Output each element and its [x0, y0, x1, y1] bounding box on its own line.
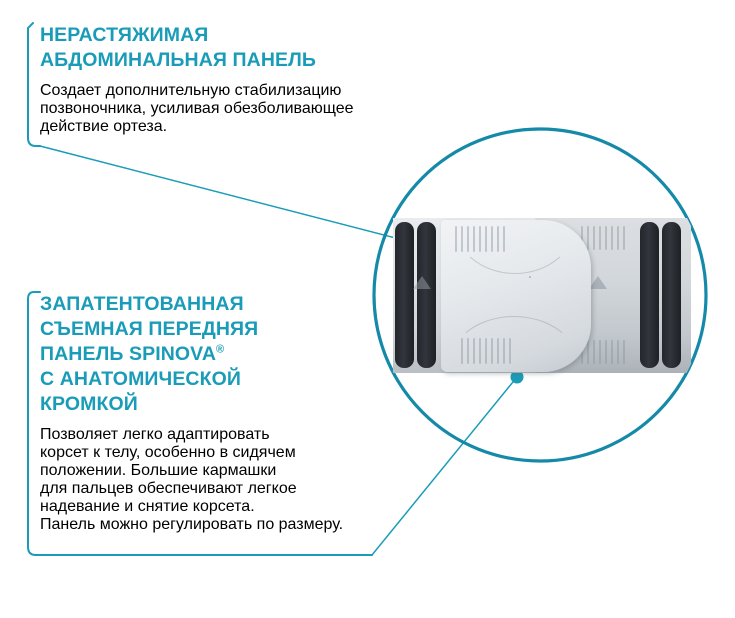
vent-ribs-top-left: [455, 226, 505, 252]
panel-anatomic-edge-upper: [453, 168, 577, 274]
callout-spinova-title-line-3: ПАНЕЛЬ SPINOVA®: [40, 342, 440, 367]
callout-spinova-title-line-4: С АНАТОМИЧЕСКОЙ: [40, 367, 440, 392]
callout-spinova-body-line-2: корсет к телу, особенно в сидячем: [40, 444, 440, 462]
velcro-strip-right-outer: [662, 222, 681, 368]
brand-emboss-left: [413, 276, 431, 289]
callout-spinova-title-line-5: КРОМКОЙ: [40, 392, 440, 417]
spinova-wordmark: ПАНЕЛЬ SPINOVA: [40, 343, 216, 365]
callout-abdominal-body-line-3: действие ортеза.: [40, 118, 440, 136]
callout-abdominal-panel: НЕРАСТЯЖИМАЯ АБДОМИНАЛЬНАЯ ПАНЕЛЬ Создае…: [40, 23, 440, 152]
callout-spinova-body-line-5: надевание и снятие корсета.: [40, 498, 440, 516]
callout-spinova-title-line-1: ЗАПАТЕНТОВАННАЯ: [40, 292, 440, 317]
callout-spinova-title: ЗАПАТЕНТОВАННАЯ СЪЕМНАЯ ПЕРЕДНЯЯ ПАНЕЛЬ …: [40, 292, 440, 417]
vent-ribs-top-right: [581, 226, 625, 250]
vent-ribs-bottom-right: [581, 340, 625, 364]
brand-emboss-right: [589, 276, 607, 289]
callout-spinova-title-line-2: СЪЕМНАЯ ПЕРЕДНЯЯ: [40, 317, 440, 342]
velcro-strip-right-inner: [640, 222, 659, 368]
bracket-abdominal: [28, 23, 40, 146]
panel-speck: [529, 276, 531, 278]
callout-spinova-front-panel: ЗАПАТЕНТОВАННАЯ СЪЕМНАЯ ПЕРЕДНЯЯ ПАНЕЛЬ …: [40, 292, 440, 550]
vent-ribs-bottom-left: [461, 338, 511, 364]
callout-abdominal-title: НЕРАСТЯЖИМАЯ АБДОМИНАЛЬНАЯ ПАНЕЛЬ: [40, 23, 440, 73]
callout-spinova-body-line-3: положении. Большие кармашки: [40, 462, 440, 480]
registered-trademark-icon: ®: [216, 344, 224, 356]
callout-abdominal-title-line-1: НЕРАСТЯЖИМАЯ: [40, 23, 440, 48]
callout-spinova-body-line-1: Позволяет легко адаптировать: [40, 426, 440, 444]
callout-spinova-body-line-6: Панель можно регулировать по размеру.: [40, 516, 440, 534]
callout-abdominal-body-line-1: Создает дополнительную стабилизацию: [40, 82, 440, 100]
callout-abdominal-body-line-2: позвоночника, усиливая обезболивающее: [40, 100, 440, 118]
callout-abdominal-title-line-2: АБДОМИНАЛЬНАЯ ПАНЕЛЬ: [40, 48, 440, 73]
callout-spinova-body-line-4: для пальцев обеспечивают легкое: [40, 480, 440, 498]
panel-anatomic-edge-lower: [449, 316, 579, 414]
